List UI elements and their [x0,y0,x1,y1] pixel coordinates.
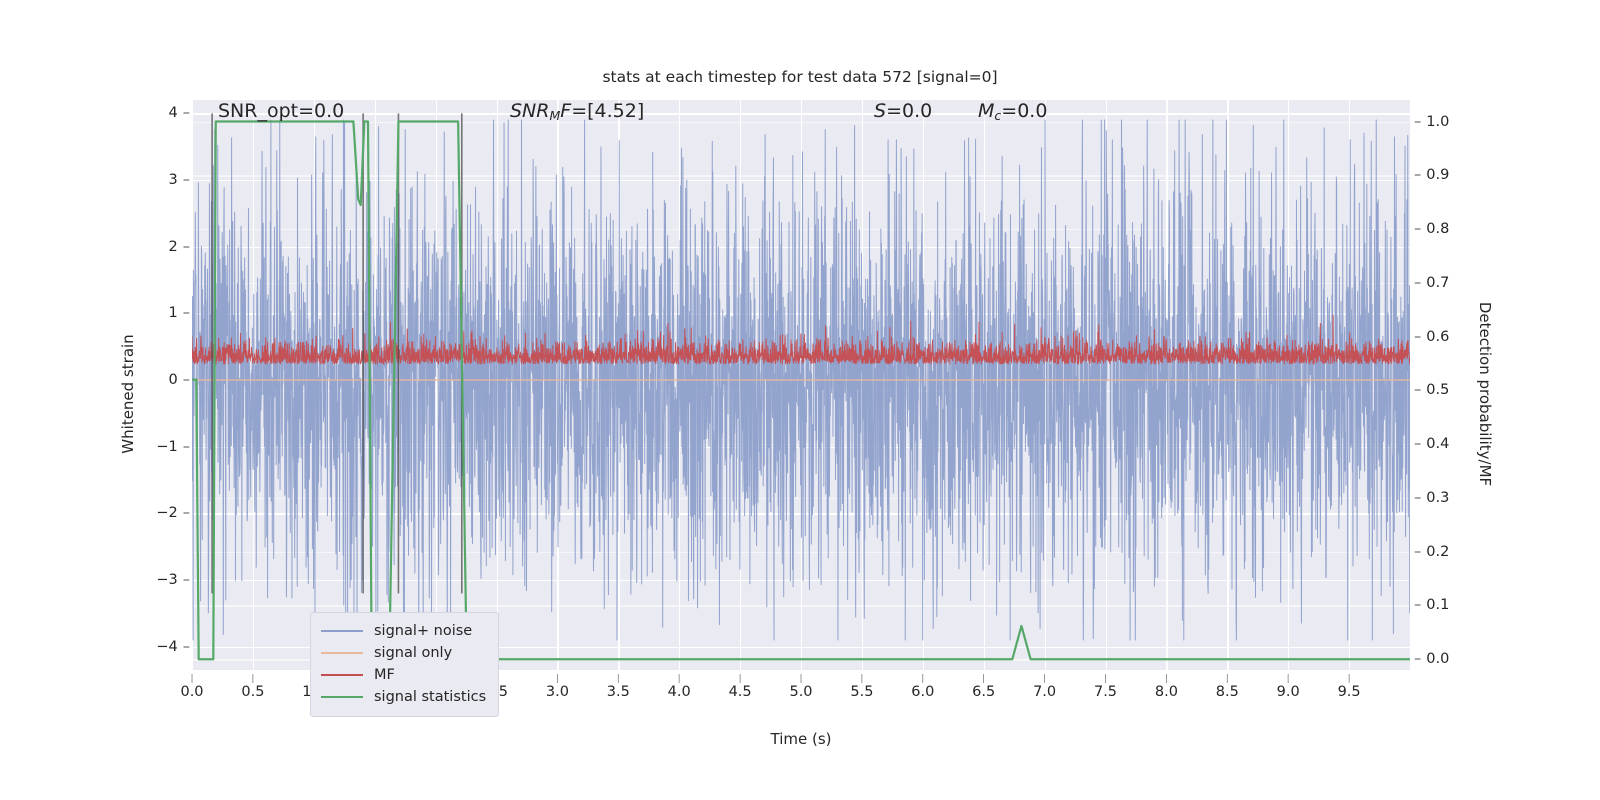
plot-area [192,100,1410,670]
figure: stats at each timestep for test data 572… [0,0,1600,800]
annotation-mc-stat: Mc=0.0 [978,100,1047,122]
legend-swatch-icon [321,696,363,698]
x-tick-label: |8.5 [1216,676,1239,700]
legend-item[interactable]: signal only [321,642,486,664]
x-tick-label: |5.0 [789,676,812,700]
legend-label: signal statistics [374,689,486,705]
y-tick-label-left: 3– [130,172,190,188]
legend-label: signal+ noise [374,623,472,639]
x-axis-label: Time (s) [192,730,1410,748]
x-tick-label: |8.0 [1155,676,1178,700]
y-tick-label-right: –1.0 [1414,114,1484,130]
legend-swatch-icon [321,652,363,654]
x-tick-label: |0.0 [180,676,203,700]
y-tick-label-right: –0.6 [1414,329,1484,345]
x-tick-label: |9.5 [1338,676,1361,700]
y-tick-label-right: –0.0 [1414,651,1484,667]
chart-title: stats at each timestep for test data 572… [0,68,1600,86]
y-tick-label-right: –0.8 [1414,221,1484,237]
y-tick-label-right: –0.5 [1414,382,1484,398]
y-axis-label-left: Whitened strain [119,254,137,534]
legend-item[interactable]: signal statistics [321,686,486,708]
legend-swatch-icon [321,630,363,632]
annotation-snr-opt: SNR_opt=0.0 [218,100,344,122]
legend[interactable]: signal+ noisesignal onlyMFsignal statist… [310,612,499,717]
x-tick-label: |3.0 [546,676,569,700]
x-tick-label: |9.0 [1277,676,1300,700]
x-tick-label: |7.5 [1094,676,1117,700]
legend-item[interactable]: signal+ noise [321,620,486,642]
legend-label: signal only [374,645,452,661]
x-tick-label: |6.5 [972,676,995,700]
x-tick-label: |7.0 [1033,676,1056,700]
legend-swatch-icon [321,674,363,676]
x-tick-label: |4.5 [729,676,752,700]
x-tick-label: |6.0 [911,676,934,700]
legend-item[interactable]: MF [321,664,486,686]
x-tick-label: |4.0 [668,676,691,700]
y-tick-label-right: –0.7 [1414,275,1484,291]
y-tick-label-right: –0.9 [1414,167,1484,183]
y-tick-label-left: 1– [130,305,190,321]
y-tick-label-right: –0.1 [1414,597,1484,613]
annotation-s-stat: S=0.0 [874,100,932,122]
y-tick-label-left: −3– [130,572,190,588]
y-tick-label-right: –0.4 [1414,436,1484,452]
legend-label: MF [374,667,395,683]
y-tick-label-left: 2– [130,239,190,255]
data-traces [192,100,1410,670]
x-tick-label: |0.5 [241,676,264,700]
y-tick-label-left: −1– [130,439,190,455]
y-tick-label-left: 0– [130,372,190,388]
x-tick-label: |5.5 [850,676,873,700]
annotation-snr-mf: SNRMF=[4.52] [510,100,644,122]
y-tick-label-left: −4– [130,639,190,655]
y-tick-label-right: –0.2 [1414,544,1484,560]
y-tick-label-left: −2– [130,505,190,521]
y-tick-label-right: –0.3 [1414,490,1484,506]
y-tick-label-left: 4– [130,105,190,121]
x-tick-label: |3.5 [607,676,630,700]
